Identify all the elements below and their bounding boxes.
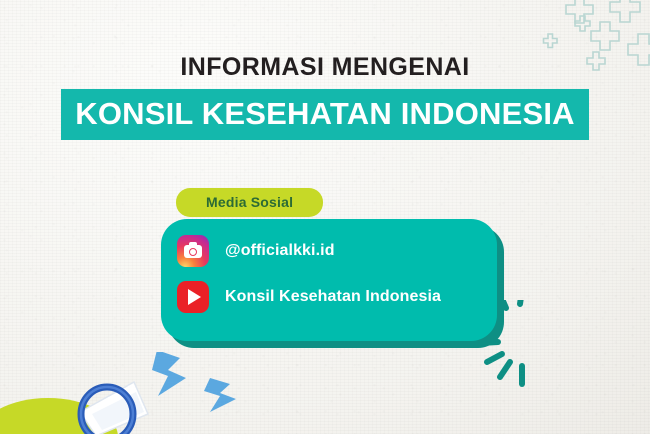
- youtube-channel-label: Konsil Kesehatan Indonesia: [225, 288, 441, 306]
- social-row-youtube[interactable]: Konsil Kesehatan Indonesia: [177, 281, 441, 313]
- poster-canvas: INFORMASI MENGENAI KONSIL KESEHATAN INDO…: [0, 0, 650, 434]
- page-title-banner: KONSIL KESEHATAN INDONESIA: [61, 89, 589, 140]
- instagram-icon[interactable]: [177, 235, 209, 267]
- social-media-card: @officialkki.id Konsil Kesehatan Indones…: [161, 219, 497, 341]
- page-title-top: INFORMASI MENGENAI: [0, 54, 650, 81]
- instagram-camera-lens-shape: [189, 248, 197, 256]
- media-sosial-badge: Media Sosial: [176, 188, 323, 217]
- megaphone-illustration-icon: [52, 352, 262, 434]
- social-row-instagram[interactable]: @officialkki.id: [177, 235, 335, 267]
- heading-block: INFORMASI MENGENAI KONSIL KESEHATAN INDO…: [0, 54, 650, 140]
- play-triangle-shape: [188, 289, 201, 305]
- youtube-icon[interactable]: [177, 281, 209, 313]
- instagram-handle-label: @officialkki.id: [225, 242, 335, 260]
